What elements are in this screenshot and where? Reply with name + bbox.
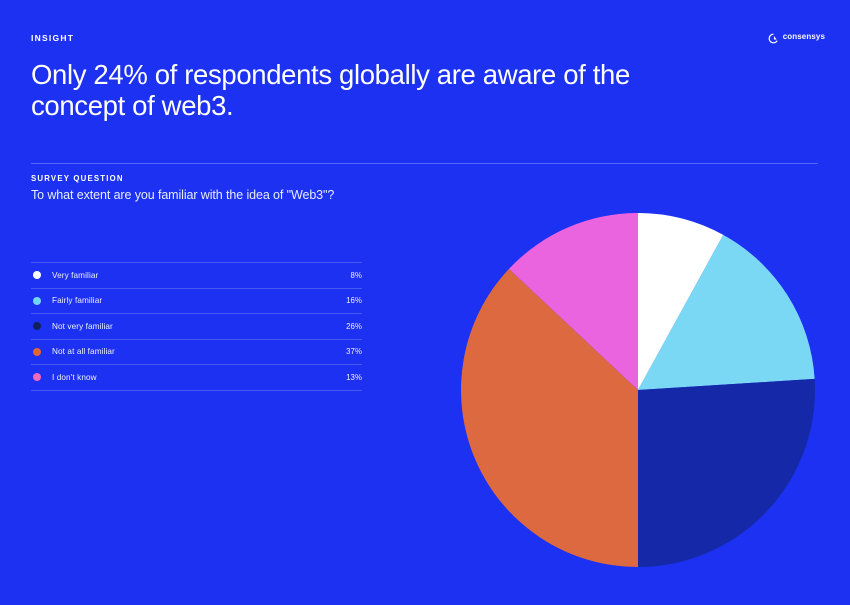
consensys-logo: consensys [768,31,825,42]
legend-item-value: 26% [346,322,362,331]
pie-chart [461,213,815,567]
pie-slice [638,379,815,567]
eyebrow-label: INSIGHT [31,33,74,43]
legend-item-label: Not at all familiar [52,347,346,356]
page-title: Only 24% of respondents globally are awa… [31,60,671,122]
list-item: Not at all familiar 37% [31,340,362,366]
list-item: Very familiar 8% [31,263,362,289]
logo-wordmark: consensys [783,32,825,41]
list-item: Not very familiar 26% [31,314,362,340]
legend-item-label: Not very familiar [52,322,346,331]
legend-item-value: 8% [351,271,362,280]
legend-item-value: 37% [346,347,362,356]
chart-legend: Very familiar 8% Fairly familiar 16% Not… [31,262,362,391]
legend-item-label: Very familiar [52,271,351,280]
survey-question-label: SURVEY QUESTION [31,174,124,183]
legend-item-label: I don't know [52,373,346,382]
legend-swatch-icon [33,373,41,381]
legend-swatch-icon [33,322,41,330]
section-divider [31,163,818,164]
legend-swatch-icon [33,271,41,279]
slide-canvas: INSIGHT consensys Only 24% of respondent… [0,0,850,605]
survey-question-text: To what extent are you familiar with the… [31,188,334,202]
legend-swatch-icon [33,348,41,356]
consensys-circle-mark-icon [768,31,779,42]
list-item: I don't know 13% [31,365,362,391]
list-item: Fairly familiar 16% [31,289,362,315]
legend-swatch-icon [33,297,41,305]
legend-item-value: 16% [346,296,362,305]
legend-item-label: Fairly familiar [52,296,346,305]
legend-item-value: 13% [346,373,362,382]
